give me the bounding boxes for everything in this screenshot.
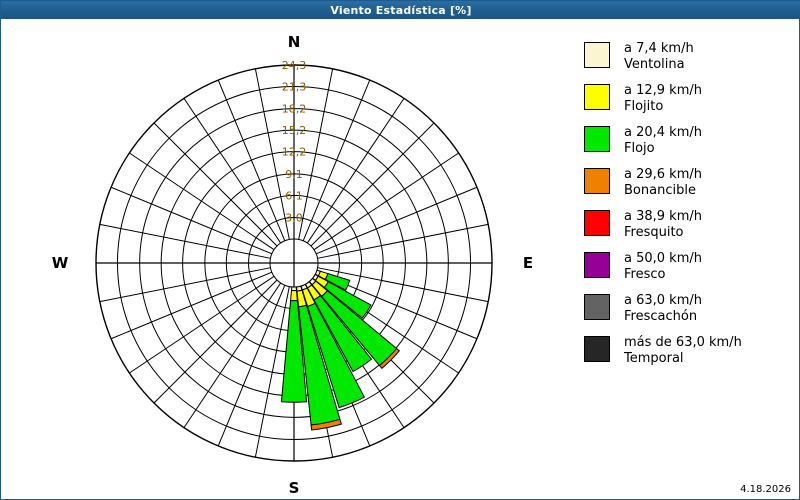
- legend-label-name: Flojo: [624, 141, 702, 157]
- legend-item[interactable]: a 38,9 km/hFresquito: [584, 209, 794, 241]
- grid-spoke: [154, 123, 277, 246]
- grid-spoke: [318, 224, 489, 258]
- legend-label-speed: a 20,4 km/h: [624, 125, 702, 141]
- polar-center-hole: [270, 239, 318, 287]
- cardinal-label-north: N: [288, 33, 301, 51]
- legend-label-speed: más de 63,0 km/h: [624, 335, 742, 351]
- legend-item[interactable]: a 50,0 km/hFresco: [584, 251, 794, 283]
- radial-tick-label: 24,3: [282, 59, 307, 72]
- legend-label-name: Bonancible: [624, 183, 702, 199]
- legend-item[interactable]: a 29,6 km/hBonancible: [584, 167, 794, 199]
- legend-label: a 38,9 km/hFresquito: [624, 209, 702, 241]
- grid-spoke: [111, 187, 272, 254]
- grid-spoke: [311, 123, 434, 246]
- legend-item[interactable]: a 12,9 km/hFlojito: [584, 83, 794, 115]
- legend-item[interactable]: a 20,4 km/hFlojo: [584, 125, 794, 157]
- legend-label: a 63,0 km/hFrescachón: [624, 293, 702, 325]
- legend-label-name: Frescachón: [624, 309, 702, 325]
- date-stamp: 4.18.2026: [740, 484, 791, 495]
- legend-swatch: [584, 252, 610, 278]
- legend-swatch: [584, 294, 610, 320]
- cardinal-label-east: E: [523, 254, 533, 272]
- legend-item[interactable]: a 63,0 km/hFrescachón: [584, 293, 794, 325]
- window-title: Viento Estadística [%]: [330, 4, 471, 17]
- grid-spoke: [100, 268, 271, 302]
- legend-label: más de 63,0 km/hTemporal: [624, 335, 742, 367]
- legend-swatch: [584, 42, 610, 68]
- legend-label: a 12,9 km/hFlojito: [624, 83, 702, 115]
- radial-tick-label: 3,0: [285, 212, 303, 225]
- window: Viento Estadística [%] 3,06,19,112,215,2…: [0, 0, 800, 500]
- legend: a 7,4 km/hVentolinaa 12,9 km/hFlojitoa 2…: [584, 41, 794, 377]
- legend-label-speed: a 12,9 km/h: [624, 83, 702, 99]
- grid-spoke: [218, 285, 285, 446]
- legend-label: a 50,0 km/hFresco: [624, 251, 702, 283]
- legend-swatch: [584, 168, 610, 194]
- window-title-bar: Viento Estadística [%]: [1, 1, 800, 19]
- legend-label-name: Fresco: [624, 267, 702, 283]
- legend-swatch: [584, 210, 610, 236]
- legend-item[interactable]: a 7,4 km/hVentolina: [584, 41, 794, 73]
- radial-tick-label: 6,1: [285, 189, 303, 202]
- cardinal-label-south: S: [289, 479, 300, 497]
- grid-spoke: [100, 224, 271, 258]
- legend-swatch: [584, 336, 610, 362]
- grid-spoke: [154, 280, 277, 403]
- wind-rose-wedge: [291, 290, 298, 300]
- legend-label: a 20,4 km/hFlojo: [624, 125, 702, 157]
- grid-spoke: [316, 187, 477, 254]
- legend-swatch: [584, 126, 610, 152]
- legend-label-name: Ventolina: [624, 57, 694, 73]
- legend-label-name: Temporal: [624, 351, 742, 367]
- legend-label-speed: a 38,9 km/h: [624, 209, 702, 225]
- grid-spoke: [111, 272, 272, 339]
- legend-label: a 29,6 km/hBonancible: [624, 167, 702, 199]
- radial-tick-label: 9,1: [285, 168, 303, 181]
- legend-label: a 7,4 km/hVentolina: [624, 41, 694, 73]
- legend-label-speed: a 50,0 km/h: [624, 251, 702, 267]
- legend-item[interactable]: más de 63,0 km/hTemporal: [584, 335, 794, 367]
- legend-label-name: Flojito: [624, 99, 702, 115]
- legend-label-speed: a 7,4 km/h: [624, 41, 694, 57]
- radial-tick-label: 15,2: [282, 124, 307, 137]
- legend-label-speed: a 63,0 km/h: [624, 293, 702, 309]
- radial-tick-label: 12,2: [282, 146, 307, 159]
- radial-tick-label: 18,2: [282, 103, 307, 116]
- radial-tick-label: 21,3: [282, 80, 307, 93]
- grid-spoke: [303, 80, 370, 241]
- legend-label-speed: a 29,6 km/h: [624, 167, 702, 183]
- legend-swatch: [584, 84, 610, 110]
- grid-spoke: [218, 80, 285, 241]
- wind-rose-wedges: [281, 270, 399, 430]
- cardinal-label-west: W: [52, 254, 69, 272]
- legend-label-name: Fresquito: [624, 225, 702, 241]
